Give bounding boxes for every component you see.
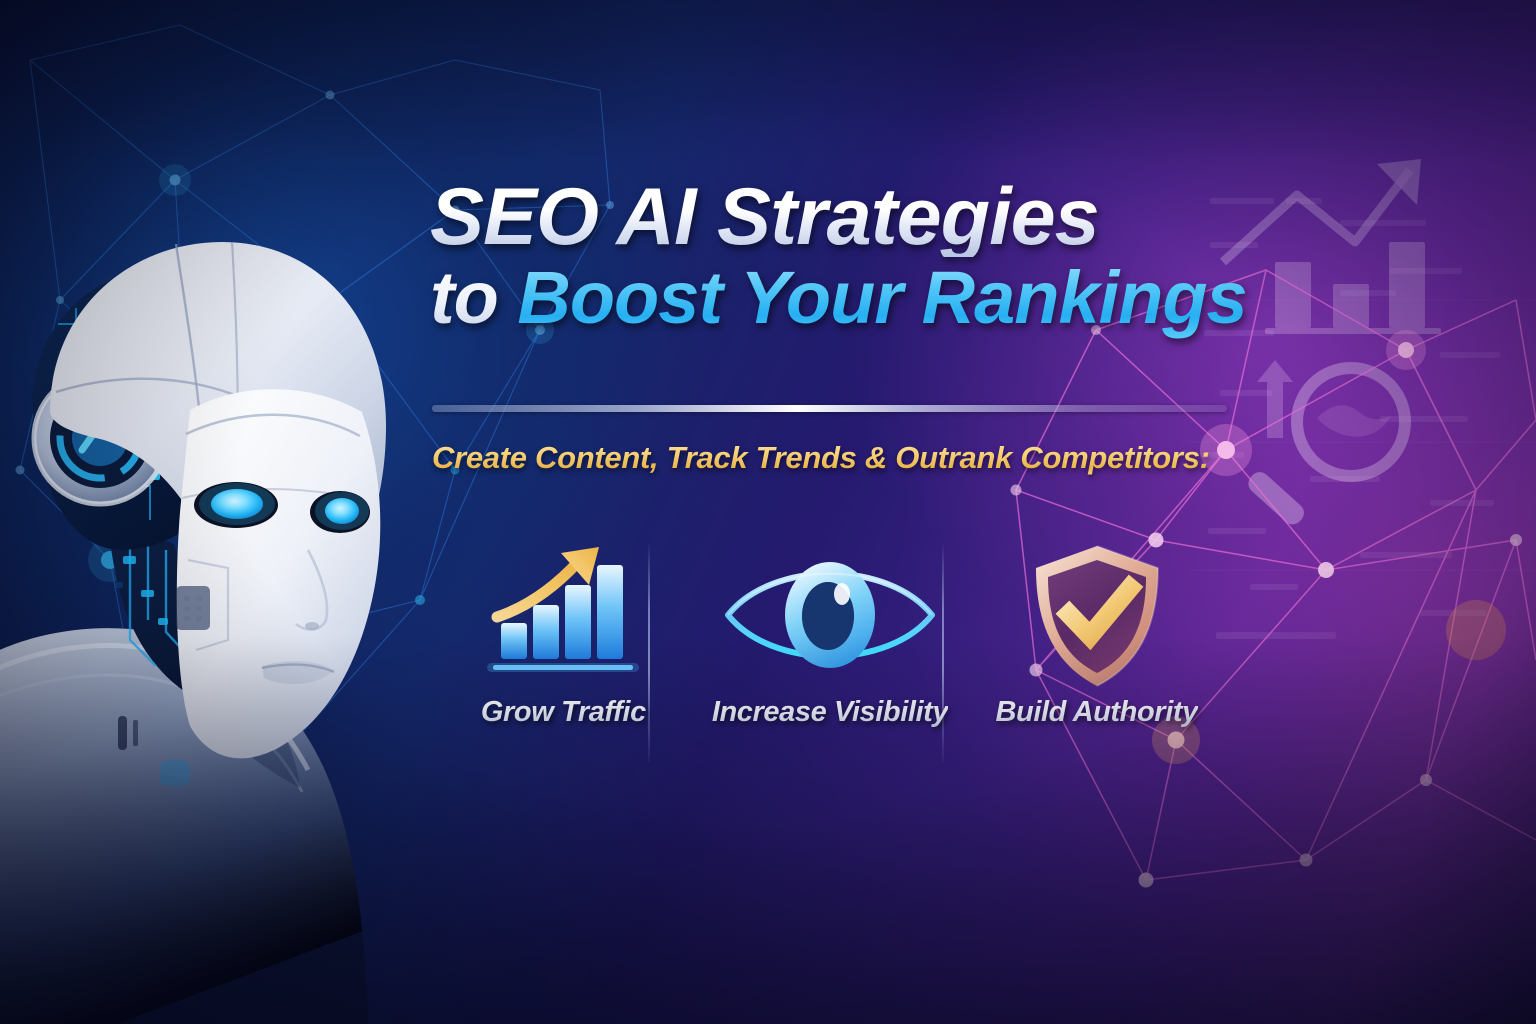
page-title: SEO AI Strategies to Boost Your Rankings bbox=[430, 178, 1240, 335]
feature-increase-visibility: Increase Visibility bbox=[697, 540, 964, 770]
robot-face bbox=[177, 389, 380, 758]
feature-list: Grow Traffic bbox=[430, 540, 1230, 770]
robot-eye-left bbox=[194, 482, 278, 528]
headline-line-2: to Boost Your Rankings bbox=[430, 261, 1240, 335]
subtitle: Create Content, Track Trends & Outrank C… bbox=[432, 440, 1242, 476]
robot-eye-right bbox=[310, 491, 370, 533]
ai-robot-head bbox=[0, 120, 420, 1024]
shield-check-icon bbox=[1022, 540, 1172, 690]
feature-grow-traffic: Grow Traffic bbox=[430, 540, 697, 770]
headline-prefix: to bbox=[430, 256, 517, 339]
feature-label: Grow Traffic bbox=[481, 696, 646, 729]
feature-icon-wrap bbox=[720, 540, 940, 690]
banner-content: SEO AI Strategies to Boost Your Rankings… bbox=[430, 0, 1230, 1024]
feature-label: Build Authority bbox=[996, 696, 1198, 729]
headline-line-1: SEO AI Strategies bbox=[430, 178, 1240, 257]
bar-chart-growth-icon bbox=[483, 545, 643, 685]
title-divider bbox=[432, 405, 1227, 412]
feature-build-authority: Build Authority bbox=[963, 540, 1230, 770]
feature-icon-wrap bbox=[483, 540, 643, 690]
eye-icon bbox=[720, 550, 940, 680]
feature-icon-wrap bbox=[1022, 540, 1172, 690]
seo-ai-banner: SEO AI Strategies to Boost Your Rankings… bbox=[0, 0, 1536, 1024]
headline-accent: Boost Your Rankings bbox=[517, 256, 1246, 339]
feature-label: Increase Visibility bbox=[712, 696, 948, 729]
